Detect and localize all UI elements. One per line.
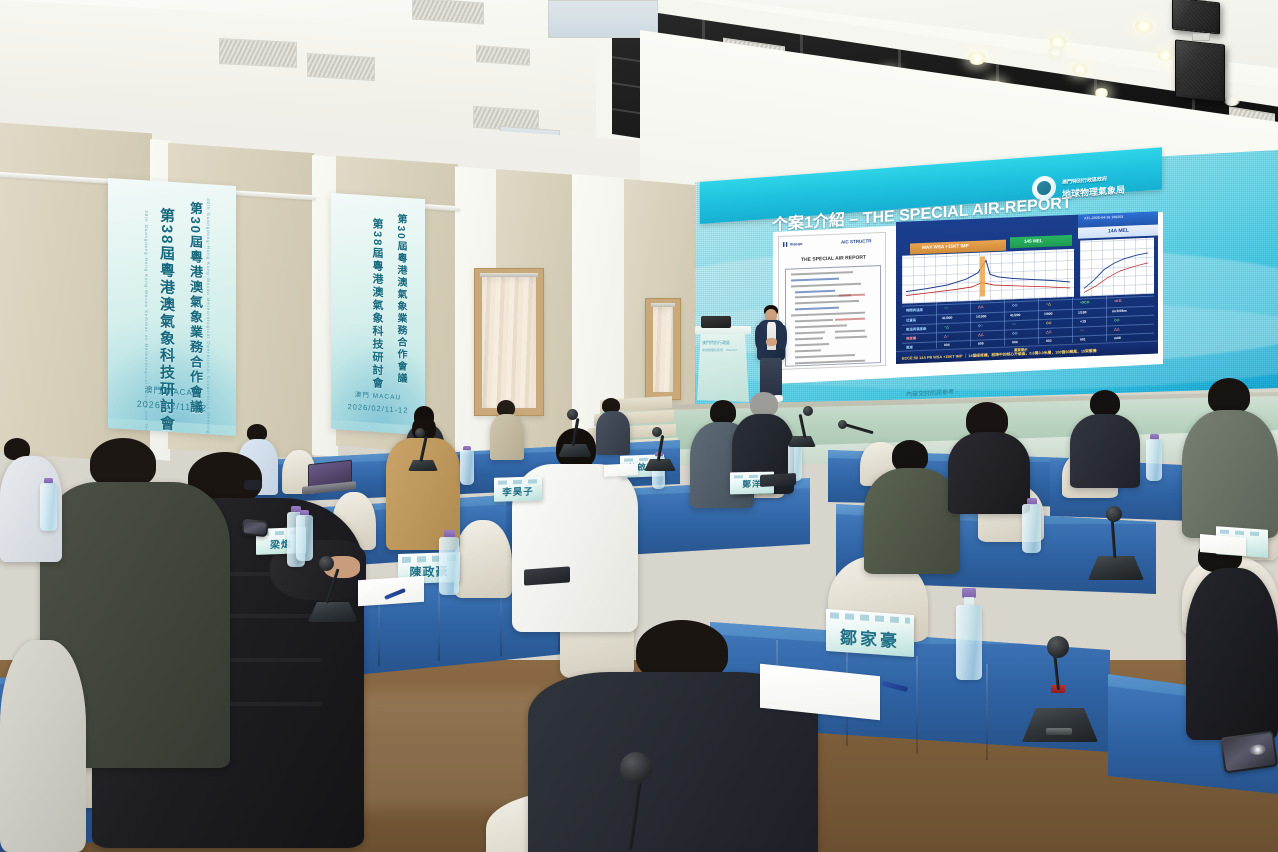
attendee-torso	[1070, 414, 1140, 488]
mic-head	[415, 428, 425, 438]
ceiling-downlight	[1047, 46, 1065, 59]
dash-cell: △○	[944, 334, 949, 338]
attendee-hair	[1208, 378, 1250, 414]
dash-cell: 41/200	[1010, 313, 1020, 317]
mic-head	[567, 409, 578, 420]
water-bottle	[460, 446, 475, 486]
conference-microphone[interactable]	[786, 406, 820, 448]
mic-head	[1047, 636, 1069, 658]
nameplate-name: 鄒家豪	[826, 622, 914, 653]
water-bottle	[1022, 498, 1042, 554]
paper-sheet	[604, 463, 638, 477]
ceiling-downlight	[1157, 50, 1173, 61]
ceiling-vent	[219, 38, 297, 68]
curtain-rod	[480, 273, 538, 277]
mic-base[interactable]	[558, 444, 592, 457]
dash-cell: 1/900	[1044, 312, 1053, 316]
smartphone-screen[interactable]	[243, 521, 266, 535]
dash-cell: 41/000	[942, 316, 952, 320]
dash-line-chart	[902, 249, 1074, 304]
tablet[interactable]	[524, 566, 570, 585]
ceiling-downlight	[1072, 64, 1088, 75]
dash-cell: +KG	[1114, 299, 1122, 303]
dash-cell: ○○	[1080, 328, 1084, 332]
nameplate: 鄒家豪	[826, 609, 914, 657]
dash-cell: 位置區	[906, 317, 916, 322]
attendee	[1186, 538, 1278, 738]
mic-head	[838, 420, 847, 429]
conference-microphone[interactable]	[600, 752, 670, 852]
mic-base[interactable]	[788, 436, 816, 447]
dash-cell: 004	[1012, 340, 1018, 344]
attendee-torso	[1182, 410, 1278, 538]
conference-microphone[interactable]	[838, 420, 894, 456]
banner-title-line2: 第38屆粵港澳氣象科技研討會	[369, 217, 385, 390]
attendee-torso	[948, 432, 1030, 514]
nameplate: 李昊子	[494, 476, 542, 502]
dash-cell: 1/180	[1078, 310, 1087, 314]
attendee	[864, 440, 960, 568]
ceiling-speaker	[1172, 0, 1220, 35]
attendee	[528, 620, 818, 852]
curtain-rod	[651, 303, 675, 307]
attendee-torso	[1186, 568, 1278, 740]
lectern-branding: 澳門特別行政區	[702, 340, 730, 346]
dash-cell: +5CH	[1080, 300, 1089, 304]
attendee-hair	[1090, 390, 1120, 416]
laptop[interactable]	[302, 462, 356, 494]
mic-base[interactable]	[1022, 708, 1098, 742]
conference-microphone[interactable]	[406, 428, 442, 472]
banner-title-line1: 第30屆粵港澳氣象業務合作會議	[186, 201, 205, 416]
slide-document-panel: ▌▌ macao AIC STRUCTR THE SPECIAL AIR REP…	[778, 232, 886, 370]
window-curtain	[653, 306, 673, 392]
dash-cell: 風速	[906, 344, 913, 349]
presenter-hands	[766, 338, 777, 346]
dash-cell: ◇◇	[1046, 321, 1052, 325]
dash-cell: 1/1000	[976, 314, 986, 318]
doc-header-right: AIC STRUCTR	[841, 238, 872, 244]
attendee-glasses	[244, 480, 262, 490]
dash-side-chart	[1080, 238, 1154, 297]
smartphone[interactable]	[241, 519, 269, 538]
ceiling-downlight	[1224, 95, 1240, 106]
mic-base[interactable]	[308, 602, 358, 622]
ceiling-downlight	[968, 52, 986, 65]
conference-microphone[interactable]	[556, 408, 596, 458]
ceiling-downlight	[1135, 20, 1153, 33]
attendee-hair	[90, 438, 156, 488]
conference-room-photo: 第30屆粵港澳氣象業務合作會議 第38屆粵港澳氣象科技研討會 30th Guan…	[0, 0, 1278, 852]
doc-title: THE SPECIAL AIR REPORT	[801, 255, 866, 263]
attendee	[1182, 378, 1278, 534]
window-frame	[645, 298, 681, 400]
mic-base[interactable]	[644, 459, 676, 471]
mic-base[interactable]	[1088, 556, 1144, 580]
water-bottle	[1146, 434, 1163, 482]
conference-microphone[interactable]	[1084, 502, 1146, 586]
nameplate-name: 李昊子	[494, 483, 542, 499]
rollup-banner-left: 第30屆粵港澳氣象業務合作會議 第38屆粵港澳氣象科技研討會 30th Guan…	[108, 178, 236, 436]
dash-cell: ○△	[944, 325, 949, 329]
attendee	[1070, 390, 1140, 480]
dash-cell: ◇◇	[1012, 303, 1018, 307]
window-curtain	[482, 276, 536, 408]
mic-head	[1106, 506, 1122, 522]
dash-tag-green-text: 145 MEL	[1024, 238, 1043, 244]
water-bottle	[40, 478, 58, 532]
attendee-hair	[750, 392, 778, 416]
mic-head	[803, 406, 813, 416]
dash-cell: ◇◇	[1012, 331, 1018, 335]
smartphone-screen[interactable]	[1222, 733, 1276, 772]
dash-cell: △△	[1114, 327, 1120, 331]
dash-cell: 氣溫與濕度級	[906, 326, 926, 332]
dash-cell: m08	[1114, 336, 1121, 340]
dash-cell: mch/0km	[1112, 309, 1127, 314]
dash-cell: △△	[978, 332, 984, 336]
mic-head	[319, 556, 334, 571]
dash-cell: 005	[978, 341, 984, 345]
dash-cell: △◇	[1046, 330, 1052, 334]
conference-microphone[interactable]	[304, 554, 360, 626]
dash-cell: ◇◇	[1114, 318, 1120, 322]
dash-cell: ○○	[1012, 322, 1016, 326]
dash-cell: ○△	[1046, 302, 1051, 306]
attendee-torso	[864, 468, 960, 574]
dash-cell: △△	[978, 304, 984, 308]
dash-cell: 004	[944, 343, 950, 347]
dash-tag-blue-text: 14A MEL	[1108, 228, 1129, 235]
rollup-banner-right: 第30屆粵港澳氣象業務合作會議 第38屆粵港澳氣象科技研討會 澳門 MACAU …	[331, 193, 425, 435]
conference-microphone[interactable]	[1016, 632, 1100, 752]
presenter-arm-right	[778, 325, 787, 349]
dash-cell: 高度層	[906, 335, 916, 340]
conference-microphone[interactable]	[642, 426, 680, 472]
attendee	[948, 402, 1030, 506]
lectern-branding-sub: 地球物理氣象局 MACAO	[702, 348, 737, 352]
slide-dashboard-panel: ATL-2025-04-16 106203 14A MEL MAX WSA +1…	[896, 211, 1158, 364]
dash-cell: ○○	[944, 306, 948, 310]
mic-head	[652, 427, 662, 437]
mic-indicator	[1046, 728, 1072, 735]
ceiling-vent	[307, 53, 375, 81]
paper-sheet	[358, 576, 424, 607]
smartphone[interactable]	[1220, 730, 1278, 773]
mic-head	[620, 752, 652, 784]
dash-cell: ◇○	[978, 324, 983, 328]
attendee-torso	[0, 640, 86, 852]
covered-chair	[454, 520, 512, 598]
ceiling-speaker	[1175, 39, 1225, 102]
lectern-monitor	[701, 316, 731, 328]
water-bottle	[955, 588, 983, 680]
doc-logo: ▌▌ macao	[783, 241, 802, 247]
attendee	[0, 640, 90, 852]
presenter-arm-left	[755, 325, 764, 349]
dash-cell: 003	[1046, 339, 1052, 343]
dash-cell: +15	[1080, 319, 1086, 323]
water-bottle	[438, 530, 460, 596]
banner-title-line1: 第30屆粵港澳氣象業務合作會議	[393, 213, 408, 385]
mic-base[interactable]	[408, 460, 438, 471]
window-frame	[474, 268, 544, 416]
speaker-bracket	[1192, 33, 1210, 41]
presenter-trousers	[760, 358, 782, 396]
dash-cell: 001	[1080, 337, 1086, 341]
tablet[interactable]	[760, 473, 796, 487]
dash-cell: 時間與溫度	[906, 307, 923, 313]
